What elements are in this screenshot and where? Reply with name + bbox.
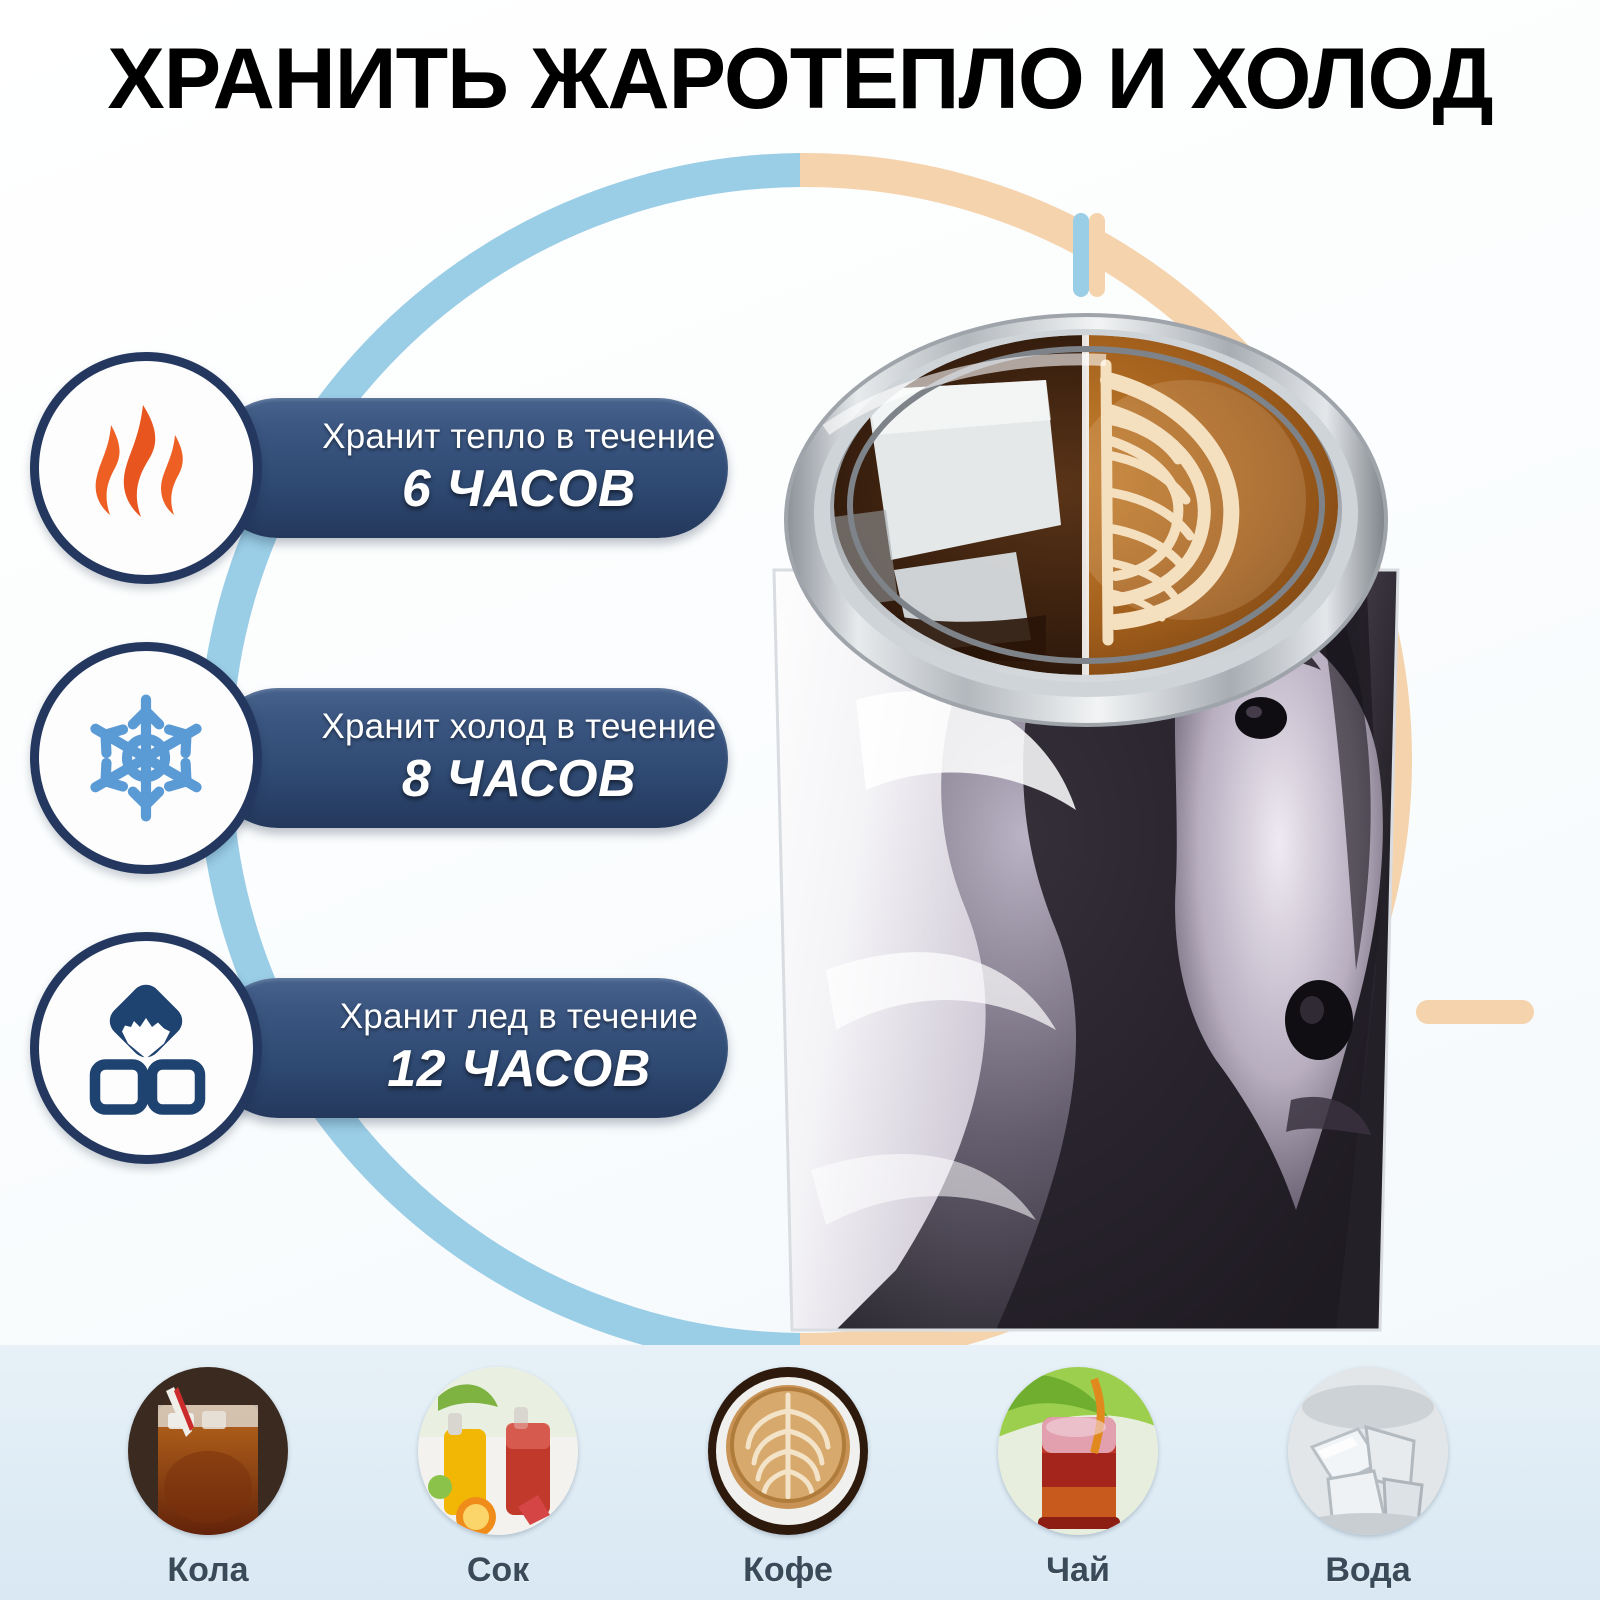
feature-duration: 12 ЧАСОВ (387, 1039, 651, 1099)
feature-label: Хранит лед в течение (340, 997, 698, 1037)
coffee-icon (708, 1367, 868, 1535)
snowflake-icon (73, 685, 219, 831)
water-ice-icon (1288, 1367, 1448, 1535)
feature-pill: Хранит холод в течение 8 ЧАСОВ (208, 688, 728, 828)
feature-icon-circle (30, 352, 262, 584)
drink-item-coffee[interactable]: Кофе (700, 1367, 876, 1590)
cola-icon (128, 1367, 288, 1535)
feature-duration: 8 ЧАСОВ (402, 749, 636, 809)
page-title: ХРАНИТЬ ЖАРОТЕПЛО И ХОЛОД (0, 36, 1600, 124)
feature-label: Хранит холод в течение (321, 707, 716, 747)
feature-pill: Хранит тепло в течение 6 ЧАСОВ (208, 398, 728, 538)
juice-icon (418, 1367, 578, 1535)
drink-item-cola[interactable]: Кола (120, 1367, 296, 1590)
drink-label: Сок (410, 1551, 586, 1590)
infographic-canvas: ХРАНИТЬ ЖАРОТЕПЛО И ХОЛОД Хранит тепло в… (0, 0, 1600, 1600)
drink-label: Чай (990, 1551, 1166, 1590)
feature-pill: Хранит лед в течение 12 ЧАСОВ (208, 978, 728, 1118)
feature-duration: 6 ЧАСОВ (402, 459, 636, 519)
feature-badge-heat[interactable]: Хранит тепло в течение 6 ЧАСОВ (30, 352, 730, 584)
flame-icon (71, 393, 221, 543)
feature-icon-circle (30, 932, 262, 1164)
feature-badge-cold[interactable]: Хранит холод в течение 8 ЧАСОВ (30, 642, 730, 874)
ice-cubes-icon (71, 973, 221, 1123)
drink-label: Кофе (700, 1551, 876, 1590)
feature-badge-ice[interactable]: Хранит лед в течение 12 ЧАСОВ (30, 932, 730, 1164)
feature-label: Хранит тепло в течение (322, 417, 716, 457)
drink-item-water[interactable]: Вода (1280, 1367, 1456, 1590)
feature-icon-circle (30, 642, 262, 874)
compatible-drinks-strip: Кола Сок (0, 1345, 1600, 1600)
drink-item-tea[interactable]: Чай (990, 1367, 1166, 1590)
drink-label: Кола (120, 1551, 296, 1590)
drink-item-juice[interactable]: Сок (410, 1367, 586, 1590)
drink-label: Вода (1280, 1551, 1456, 1590)
product-tumbler (716, 270, 1456, 1360)
tea-icon (998, 1367, 1158, 1535)
